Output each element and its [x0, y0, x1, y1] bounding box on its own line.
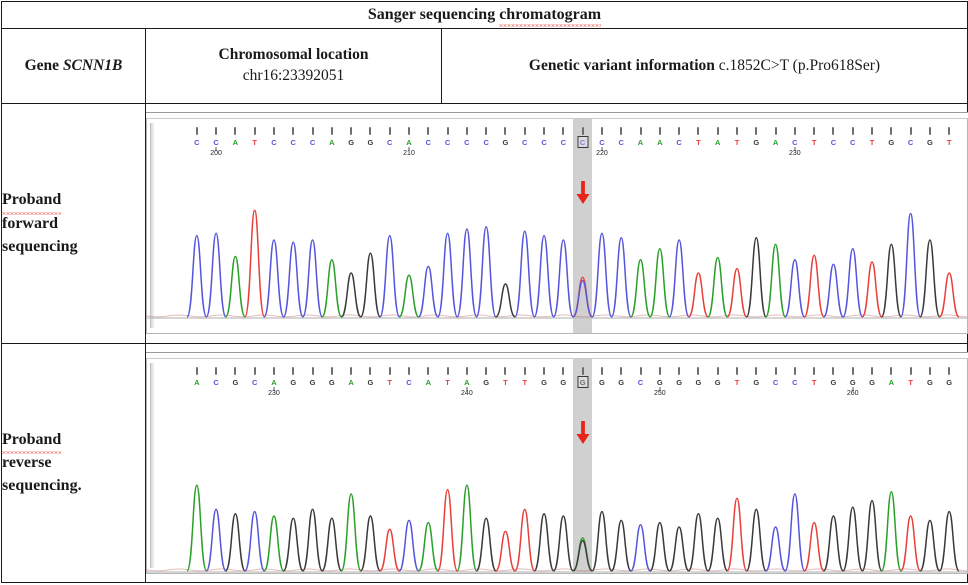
base-call-letter: C	[387, 138, 392, 147]
row-label-reverse-trailing: .	[78, 477, 82, 494]
position-label: 230	[789, 150, 801, 157]
row-label-forward-line2: forward	[2, 212, 145, 235]
base-call-letter: T	[735, 378, 740, 387]
base-tick	[254, 367, 256, 375]
base-tick	[543, 367, 545, 375]
forward-chromatogram-viewer[interactable]: CCATCCCAGGCACCCCGCCCCCCAACTATGACTCCTGCGT…	[146, 112, 968, 334]
base-call-letter: G	[618, 378, 624, 387]
base-tick	[794, 367, 796, 375]
base-call-letter: G	[753, 138, 759, 147]
base-call-letter: C	[850, 138, 855, 147]
base-tick	[543, 127, 545, 135]
base-call-letter: G	[348, 138, 354, 147]
base-call-letter: G	[927, 138, 933, 147]
variant-down-arrow-icon	[575, 421, 590, 450]
base-tick	[485, 367, 487, 375]
variant-information-value: c.1852C>T (p.Pro618Ser)	[719, 57, 880, 74]
base-tick	[273, 367, 275, 375]
position-label: 220	[596, 150, 608, 157]
base-tick	[234, 367, 236, 375]
base-tick	[524, 367, 526, 375]
base-tick	[871, 127, 873, 135]
base-call-letter: C	[831, 138, 836, 147]
base-call-letter: T	[696, 138, 701, 147]
base-call-letter: G	[310, 378, 316, 387]
base-call-letter: G	[599, 378, 605, 387]
base-tick	[389, 127, 391, 135]
base-tick	[678, 127, 680, 135]
base-call-letter: G	[368, 138, 374, 147]
base-call-letter: C	[541, 138, 546, 147]
base-tick	[852, 367, 854, 375]
base-tick	[736, 127, 738, 135]
base-tick	[717, 127, 719, 135]
base-tick	[254, 127, 256, 135]
base-tick	[755, 127, 757, 135]
base-tick	[196, 127, 198, 135]
base-tick	[601, 127, 603, 135]
row-label-reverse: Proband reverse sequencing.	[2, 343, 146, 583]
base-call-letter: C	[426, 138, 431, 147]
base-call-letter: A	[233, 138, 238, 147]
viewer-frame: CCATCCCAGGCACCCCGCCCCCCAACTATGACTCCTGCGT…	[146, 119, 968, 334]
base-tick	[369, 367, 371, 375]
base-tick	[948, 127, 950, 135]
variant-down-arrow-icon	[575, 181, 590, 210]
position-label: 230	[268, 390, 280, 397]
base-tick	[427, 127, 429, 135]
base-call-letter: A	[348, 378, 353, 387]
base-tick	[562, 367, 564, 375]
base-tick	[273, 127, 275, 135]
base-tick	[929, 367, 931, 375]
base-tick	[331, 367, 333, 375]
base-call-letter: T	[812, 138, 817, 147]
base-tick	[620, 127, 622, 135]
position-label: 250	[654, 390, 666, 397]
base-call-letter: G	[946, 378, 952, 387]
position-label: 260	[847, 390, 859, 397]
base-tick	[408, 367, 410, 375]
base-tick	[524, 127, 526, 135]
base-call-letter: A	[715, 138, 720, 147]
base-call-letter: C	[483, 138, 488, 147]
base-tick	[292, 367, 294, 375]
base-tick	[640, 367, 642, 375]
base-call-letter: T	[947, 138, 952, 147]
base-call-letter: C	[908, 138, 913, 147]
base-tick	[871, 367, 873, 375]
chromosomal-location-cell: Chromosomal location chr16:23392051	[146, 29, 442, 104]
variant-information-cell: Genetic variant information c.1852C>T (p…	[442, 29, 968, 104]
base-call-letter: C	[619, 138, 624, 147]
base-tick	[562, 127, 564, 135]
base-tick	[466, 127, 468, 135]
gene-label: Gene	[25, 57, 63, 74]
base-tick	[813, 127, 815, 135]
base-call-letter: A	[329, 138, 334, 147]
base-call-letter: A	[194, 378, 199, 387]
base-call-letter: A	[638, 138, 643, 147]
base-tick	[447, 367, 449, 375]
base-call-letter: G	[560, 378, 566, 387]
row-label-reverse-line1: Proband	[2, 428, 61, 451]
base-call-letter: T	[387, 378, 392, 387]
viewer-topbar	[146, 352, 968, 359]
base-tick	[794, 127, 796, 135]
row-label-reverse-line2: reverse	[2, 451, 145, 474]
base-tick	[755, 367, 757, 375]
base-call-letter: T	[735, 138, 740, 147]
base-tick	[369, 127, 371, 135]
chromosomal-location-label: Chromosomal location	[146, 45, 441, 66]
base-call-letter: G	[329, 378, 335, 387]
base-tick	[736, 367, 738, 375]
base-tick	[813, 367, 815, 375]
base-tick	[234, 127, 236, 135]
base-call-letter: C	[792, 378, 797, 387]
base-call-letter: C	[522, 138, 527, 147]
sanger-figure-table: Sanger sequencing chromatogram Gene SCNN…	[1, 1, 968, 583]
base-tick	[582, 127, 584, 135]
base-call-letter: T	[908, 378, 913, 387]
base-tick	[910, 367, 912, 375]
base-tick	[697, 367, 699, 375]
base-call-letter: A	[773, 138, 778, 147]
base-call-letter: C	[773, 378, 778, 387]
gene-cell: Gene SCNN1B	[2, 29, 146, 104]
base-tick	[620, 367, 622, 375]
position-label: 210	[403, 150, 415, 157]
base-tick	[485, 127, 487, 135]
base-tick	[775, 127, 777, 135]
base-tick	[292, 127, 294, 135]
position-label: 200	[210, 150, 222, 157]
base-call-letter: G	[869, 378, 875, 387]
base-tick	[601, 367, 603, 375]
chromatogram-traces	[147, 119, 968, 334]
base-call-letter: A	[271, 378, 276, 387]
base-tick	[832, 127, 834, 135]
row-label-forward: Proband forward sequencing	[2, 104, 146, 344]
base-call-letter: C	[291, 138, 296, 147]
base-call-letter: A	[464, 378, 469, 387]
base-call-letter: G	[715, 378, 721, 387]
base-tick	[408, 127, 410, 135]
base-tick	[447, 127, 449, 135]
base-call-letter: C	[445, 138, 450, 147]
viewer-topbar	[146, 112, 968, 119]
base-tick	[890, 127, 892, 135]
base-tick	[582, 367, 584, 375]
base-call-letter: G	[368, 378, 374, 387]
base-tick	[678, 367, 680, 375]
base-tick	[350, 127, 352, 135]
base-tick	[659, 127, 661, 135]
base-call-letter: T	[812, 378, 817, 387]
base-call-letter: A	[657, 138, 662, 147]
base-call-letter: A	[426, 378, 431, 387]
base-tick	[312, 127, 314, 135]
base-call-letter: T	[522, 378, 527, 387]
base-call-letter: A	[889, 378, 894, 387]
base-tick	[350, 367, 352, 375]
base-tick	[215, 367, 217, 375]
base-call-letter: A	[406, 138, 411, 147]
base-call-letter: G	[753, 378, 759, 387]
position-label: 240	[461, 390, 473, 397]
reverse-chromatogram-cell: ACGCAGGGAGTCATAGTTGGGGGCGGGGTGCCTGGGATGG…	[146, 343, 968, 583]
forward-chromatogram-cell: CCATCCCAGGCACCCCGCCCCCCAACTATGACTCCTGCGT…	[146, 104, 968, 344]
base-tick	[504, 367, 506, 375]
base-tick	[890, 367, 892, 375]
base-call-letter: G	[541, 378, 547, 387]
row-label-forward-line3: sequencing	[2, 235, 145, 258]
base-tick	[215, 127, 217, 135]
figure-title-cell: Sanger sequencing chromatogram	[2, 2, 968, 29]
figure-page: Sanger sequencing chromatogram Gene SCNN…	[0, 1, 968, 585]
row-label-forward-line1: Proband	[2, 188, 61, 211]
base-tick	[640, 127, 642, 135]
base-tick	[832, 367, 834, 375]
base-call-letter: C	[252, 378, 257, 387]
reverse-row: Proband reverse sequencing. ACGCAGGGAGTC…	[2, 343, 968, 583]
row-label-reverse-line3: sequencing	[2, 477, 78, 494]
base-call-letter: C	[213, 378, 218, 387]
base-call-letter: C	[599, 138, 604, 147]
misspelled-word-chromatogram: chromatogram	[499, 6, 601, 24]
base-call-letter: C	[561, 138, 566, 147]
base-tick	[697, 127, 699, 135]
base-call-letter: C	[638, 378, 643, 387]
base-call-letter: C	[792, 138, 797, 147]
base-tick	[312, 367, 314, 375]
base-tick	[196, 367, 198, 375]
base-call-letter: T	[870, 138, 875, 147]
base-call-letter: C	[271, 138, 276, 147]
figure-title-text: Sanger sequencing chromatogram	[368, 6, 601, 23]
base-call-letter: G	[483, 378, 489, 387]
base-call-letter: G	[695, 378, 701, 387]
forward-row: Proband forward sequencing CCATCCCAGGCAC…	[2, 104, 968, 344]
variant-base-box	[577, 376, 588, 388]
base-call-letter: C	[676, 138, 681, 147]
base-call-letter: G	[676, 378, 682, 387]
base-call-letter: C	[194, 138, 199, 147]
base-call-letter: T	[445, 378, 450, 387]
gene-name: SCNN1B	[63, 57, 122, 74]
base-tick	[910, 127, 912, 135]
base-tick	[331, 127, 333, 135]
reverse-chromatogram-viewer[interactable]: ACGCAGGGAGTCATAGTTGGGGGCGGGGTGCCTGGGATGG…	[146, 352, 968, 574]
base-call-letter: G	[831, 378, 837, 387]
base-call-letter: C	[310, 138, 315, 147]
base-call-letter: G	[888, 138, 894, 147]
base-tick	[659, 367, 661, 375]
base-call-letter: G	[927, 378, 933, 387]
variant-information-label: Genetic variant information	[529, 57, 719, 74]
base-call-letter: G	[657, 378, 663, 387]
base-tick	[929, 127, 931, 135]
base-tick	[389, 367, 391, 375]
base-call-letter: G	[232, 378, 238, 387]
base-call-letter: C	[464, 138, 469, 147]
title-row: Sanger sequencing chromatogram	[2, 2, 968, 29]
base-tick	[504, 127, 506, 135]
base-tick	[427, 367, 429, 375]
viewer-frame: ACGCAGGGAGTCATAGTTGGGGGCGGGGTGCCTGGGATGG…	[146, 359, 968, 574]
base-tick	[717, 367, 719, 375]
chromosomal-location-value: chr16:23392051	[146, 66, 441, 87]
base-tick	[466, 367, 468, 375]
base-call-letter: C	[213, 138, 218, 147]
base-call-letter: T	[252, 138, 257, 147]
base-call-letter: G	[850, 378, 856, 387]
base-call-letter: G	[290, 378, 296, 387]
base-tick	[852, 127, 854, 135]
base-tick	[948, 367, 950, 375]
base-call-letter: C	[406, 378, 411, 387]
base-call-letter: T	[503, 378, 508, 387]
base-call-letter: G	[503, 138, 509, 147]
variant-base-box	[577, 136, 588, 148]
base-tick	[775, 367, 777, 375]
header-row: Gene SCNN1B Chromosomal location chr16:2…	[2, 29, 968, 104]
